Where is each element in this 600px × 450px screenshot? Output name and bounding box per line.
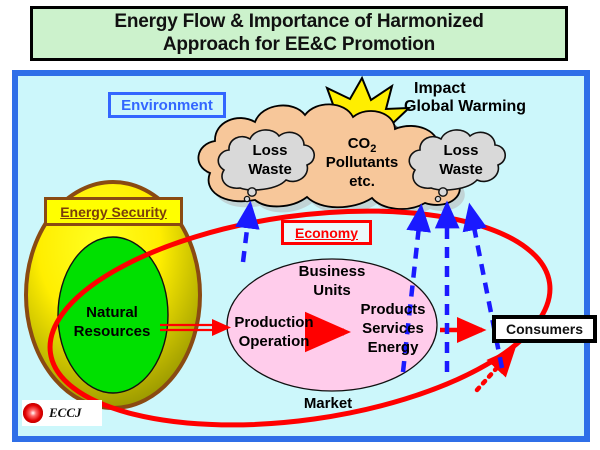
units-label: Units	[292, 283, 372, 299]
waste-label-left: Waste	[240, 162, 300, 178]
business-label: Business	[288, 264, 376, 280]
eccj-logo: ECCJ	[22, 400, 102, 426]
production-label: Production	[226, 315, 322, 331]
consumers-box: Consumers	[492, 315, 597, 343]
products-label: Products	[352, 302, 434, 318]
environment-label: Environment	[108, 92, 226, 118]
natural-label: Natural	[64, 305, 160, 321]
waste-label-right: Waste	[431, 162, 491, 178]
global-warming-label: Global Warming	[404, 98, 526, 115]
eccj-logo-text: ECCJ	[49, 405, 82, 421]
services-label: Services	[352, 321, 434, 337]
economy-label: Economy	[281, 220, 372, 245]
energy-security-label: Energy Security	[44, 197, 183, 226]
etc-label: etc.	[338, 174, 386, 190]
pollutants-label: Pollutants	[316, 155, 408, 171]
loss-label-left: Loss	[244, 143, 296, 159]
eccj-mark-icon	[23, 403, 43, 423]
co2-label: CO2	[322, 136, 402, 156]
operation-label: Operation	[226, 334, 322, 350]
loss-label-right: Loss	[435, 143, 487, 159]
energy-label: Energy	[352, 340, 434, 356]
diagram-root: Energy Flow & Importance of Harmonized A…	[0, 0, 600, 450]
flow-consumers-feedback	[477, 350, 513, 390]
resources-label: Resources	[54, 324, 170, 340]
impact-label: Impact	[414, 80, 466, 97]
market-label: Market	[295, 396, 361, 412]
